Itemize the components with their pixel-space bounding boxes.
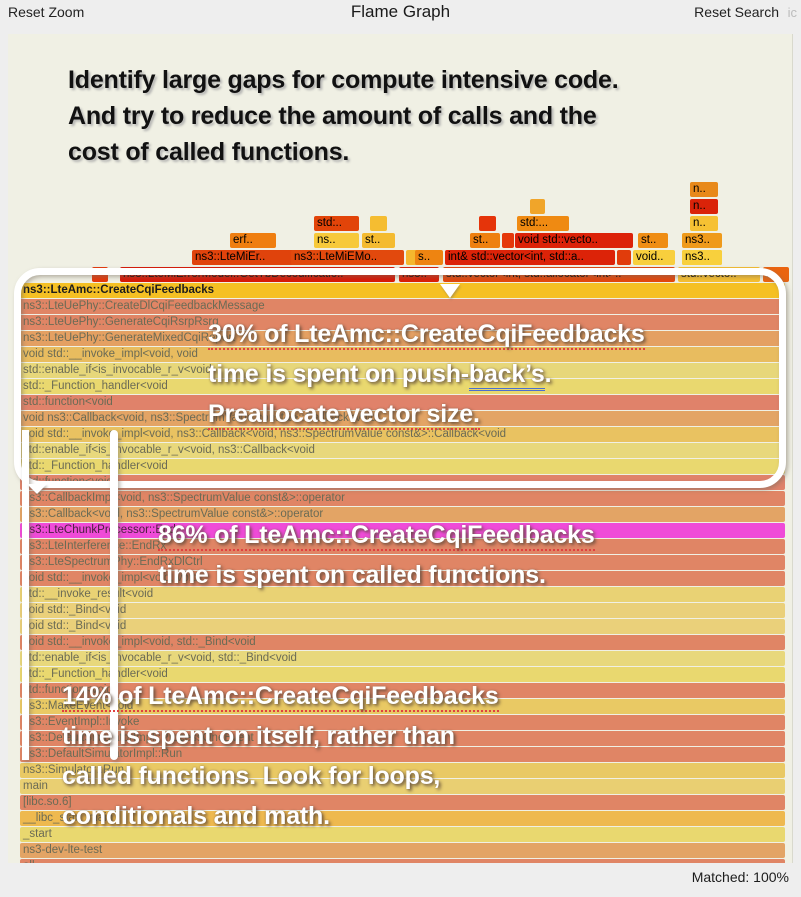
toolbar: Reset Zoom Flame Graph Reset Search ic bbox=[0, 0, 801, 34]
annotation-callout-1: 30% of LteAmc::CreateCqiFeedbacks time i… bbox=[208, 314, 768, 434]
flame-frame[interactable] bbox=[370, 216, 387, 231]
flame-frame[interactable]: ns3.. bbox=[682, 250, 722, 265]
flame-frame[interactable]: ns3.. bbox=[399, 267, 439, 282]
callout-1-line-1: 30% of LteAmc::CreateCqiFeedbacks bbox=[208, 320, 645, 350]
flame-graph-page: Reset Zoom Flame Graph Reset Search ic n… bbox=[0, 0, 801, 897]
flame-frame[interactable]: std::enable_if<is_invocable_r_v<void, ns… bbox=[20, 443, 785, 458]
annotation-header-line-1: Identify large gaps for compute intensiv… bbox=[68, 62, 768, 98]
flame-frame[interactable]: st.. bbox=[638, 233, 668, 248]
annotation-callout-3: 14% of LteAmc::CreateCqiFeedbacks time i… bbox=[62, 676, 722, 836]
callout-3-line-2: time is spent on itself, rather than bbox=[62, 722, 455, 750]
search-icon[interactable]: ic bbox=[788, 5, 797, 20]
flame-frame[interactable]: std:.. bbox=[314, 216, 359, 231]
flame-frame[interactable]: void std::_Bind<void bbox=[20, 619, 785, 634]
flame-frame[interactable]: ns.. bbox=[314, 233, 359, 248]
annotation-header-line-3: cost of called functions. bbox=[68, 134, 768, 170]
flame-frame[interactable]: n.. bbox=[690, 199, 718, 214]
flame-frame[interactable]: ns3::LteMiEMo.. bbox=[291, 250, 404, 265]
flame-frame[interactable] bbox=[92, 267, 108, 282]
page-title: Flame Graph bbox=[0, 2, 801, 22]
flame-frame[interactable]: void std::__invoke_impl<void, std::_Bind… bbox=[20, 635, 785, 650]
flame-frame[interactable] bbox=[617, 250, 631, 265]
flame-frame[interactable] bbox=[502, 233, 514, 248]
flame-frame[interactable]: std::enable_if<is_invocable_r_v<void, st… bbox=[20, 651, 785, 666]
flame-frame[interactable]: std:... bbox=[517, 216, 569, 231]
reset-search-button[interactable]: Reset Search bbox=[694, 4, 779, 20]
callout-1-line-2a: time is spent on push- bbox=[208, 360, 469, 388]
flame-frame[interactable]: ns3::LteAmc::CreateCqiFeedbacks bbox=[20, 283, 785, 298]
callout-3-line-1: 14% of LteAmc::CreateCqiFeedbacks bbox=[62, 682, 499, 712]
callout-2-line-1: 86% of LteAmc::CreateCqiFeedbacks bbox=[158, 521, 595, 551]
flame-frame[interactable] bbox=[530, 199, 545, 214]
flame-frame[interactable]: s.. bbox=[763, 267, 789, 282]
annotation-header-line-2: And try to reduce the amount of calls an… bbox=[68, 98, 768, 134]
flame-frame[interactable]: n.. bbox=[690, 216, 718, 231]
flame-frame[interactable]: ns3::LteMiEr.. bbox=[192, 250, 294, 265]
callout-2-line-2: time is spent on called functions. bbox=[158, 561, 546, 589]
flame-frame[interactable]: ns3::LteUePhy::CreateDlCqiFeedbackMessag… bbox=[20, 299, 785, 314]
flame-frame[interactable]: int& std::vector<int, std::a.. bbox=[445, 250, 615, 265]
flame-frame[interactable]: n.. bbox=[690, 182, 718, 197]
flame-frame[interactable]: ns3::LteMiErrorModel::GetTbDecodificatio… bbox=[120, 267, 395, 282]
flame-frame[interactable]: ns3::CallbackImpl<void, ns3::SpectrumVal… bbox=[20, 491, 785, 506]
annotation-callout-2: 86% of LteAmc::CreateCqiFeedbacks time i… bbox=[158, 515, 798, 595]
callout-3-line-3: called functions. Look for loops, bbox=[62, 762, 440, 790]
status-bar: Matched: 100% bbox=[0, 863, 801, 897]
flame-frame[interactable]: st.. bbox=[362, 233, 395, 248]
flame-frame[interactable]: std::function<void bbox=[20, 475, 785, 490]
flame-frame[interactable]: erf.. bbox=[230, 233, 276, 248]
annotation-header: Identify large gaps for compute intensiv… bbox=[68, 62, 768, 170]
flame-frame[interactable]: st.. bbox=[470, 233, 500, 248]
flame-frame[interactable] bbox=[479, 216, 496, 231]
flame-frame[interactable]: std::vecto.. bbox=[678, 267, 760, 282]
flame-frame[interactable]: ns3.. bbox=[682, 233, 722, 248]
flame-frame[interactable]: std::_Function_handler<void bbox=[20, 459, 785, 474]
matched-label: Matched: 100% bbox=[692, 869, 789, 885]
flame-frame[interactable]: void std::vecto.. bbox=[515, 233, 633, 248]
flame-frame[interactable]: std::vector<int, std::allocator<int>.. bbox=[443, 267, 675, 282]
flame-frame[interactable]: ns3-dev-lte-test bbox=[20, 843, 785, 858]
flame-frame[interactable]: s.. bbox=[415, 250, 443, 265]
callout-1-line-3: Preallocate vector size. bbox=[208, 400, 480, 430]
callout-1-line-2b: back’s bbox=[469, 360, 545, 391]
callout-3-line-4: conditionals and math. bbox=[62, 802, 330, 830]
callout-1-line-2c: . bbox=[545, 360, 552, 388]
flame-frame[interactable]: void.. bbox=[633, 250, 675, 265]
flame-frame[interactable]: void std::_Bind<void bbox=[20, 603, 785, 618]
